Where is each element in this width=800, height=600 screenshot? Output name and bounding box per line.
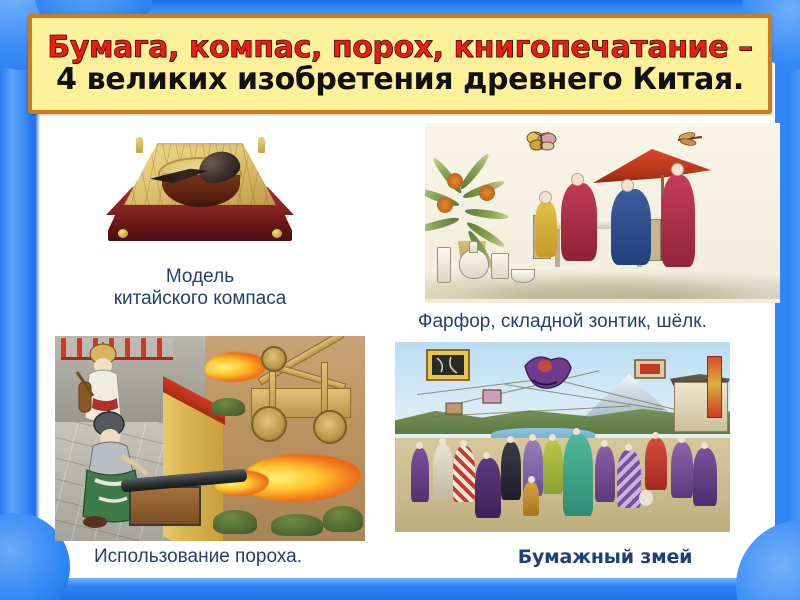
porcelain-tall-jar [437,247,451,283]
kite-small-red [633,358,667,387]
caption-gunpowder: Использование пороха. [28,546,368,568]
compass-foot-right [272,229,282,238]
crowd-figure [671,442,693,498]
scene-figure-yellow-head [539,191,552,204]
kite-figure-purple [519,352,575,395]
catapult-wheel-left [251,406,287,442]
porcelain-teapot [459,249,489,279]
caption-porcelain: Фарфор, складной зонтик, шёлк. [418,311,800,333]
crowd-figure-head [678,436,685,443]
crowd-figure-head [601,440,608,447]
crowd-figure [543,440,563,494]
kite-small-distant [445,402,463,421]
crowd-figure [411,448,429,502]
slide-title-line-2: 4 великих изобретения древнего Китая. [56,64,744,96]
crowd-child-head [528,476,535,483]
scene-figure-blue [611,189,651,265]
crowd-figure [693,448,717,506]
crowd-figure-green-kimono [563,434,593,516]
image-paper-kite [395,342,730,532]
image-chinese-compass [100,125,300,263]
crowd-figure-head [507,436,514,443]
crowd-figure [501,442,521,500]
crowd-figure-red [645,438,667,490]
image-porcelain-umbrella-silk [425,123,780,303]
porcelain-bowl [511,269,535,283]
caption-kite: Бумажный змей [480,546,730,568]
crowd-figure [475,458,501,518]
crowd-figure-head [416,442,423,449]
crowd-figure-head [549,434,556,441]
catapult-wheel-right [313,410,347,444]
crowd-figure-head [529,434,536,441]
crowd-figure-head [460,440,467,447]
festival-banner [707,356,722,418]
crowd-figure-head [625,444,632,451]
scene-figure-red-standing [661,175,695,267]
porcelain-cylinder-jar [491,253,509,279]
crowd-figure-patterned [617,450,641,508]
crowd-figure-checkered [453,446,475,502]
crowd-figure-head [573,428,580,435]
porcelain-teapot-neck [469,241,478,253]
butterfly-icon [525,131,555,151]
plant-flower [479,185,495,201]
image-gunpowder-use [55,336,365,541]
crowd-figure-head [483,452,490,459]
scene-figure-yellow [535,201,557,257]
bush [213,510,257,534]
crowd-figure [595,446,615,502]
catapult-pulley [261,346,287,372]
caption-compass: Модель китайского компаса [60,266,340,311]
slide-content: Модель китайского компаса [40,118,780,578]
scene-figure-red-standing-head [671,163,684,176]
scene-figure-red-seated [561,183,597,261]
dog [639,490,653,506]
slide-border-bottom [0,578,800,600]
kite-small-distant [481,388,503,411]
bush [271,514,323,536]
dragonfly-icon [675,131,705,151]
kite-rectangular-yellow [425,348,471,387]
presentation-slide: Бумага, компас, порох, книгопечатание – … [0,0,800,600]
scene-figure-blue-head [621,179,634,192]
compass-corner-post-left [136,137,143,153]
bush [323,506,363,532]
plant-flower [447,173,463,189]
slide-title-line-1: Бумага, компас, порох, книгопечатание – [47,32,753,64]
bush [211,398,245,416]
crowd-figure [433,444,453,502]
fire-lance-stand [129,486,201,526]
compass-corner-post-right [258,137,265,153]
crowd-figure-head [652,432,659,439]
compass-foot-left [118,229,128,238]
slide-title-box: Бумага, компас, порох, книгопечатание – … [28,14,772,114]
plant-flower [437,197,453,213]
crowd-figure-head [701,442,708,449]
crowd-figure-head [439,438,446,445]
crowd-child [523,482,539,516]
scene-figure-red-head [571,173,584,186]
